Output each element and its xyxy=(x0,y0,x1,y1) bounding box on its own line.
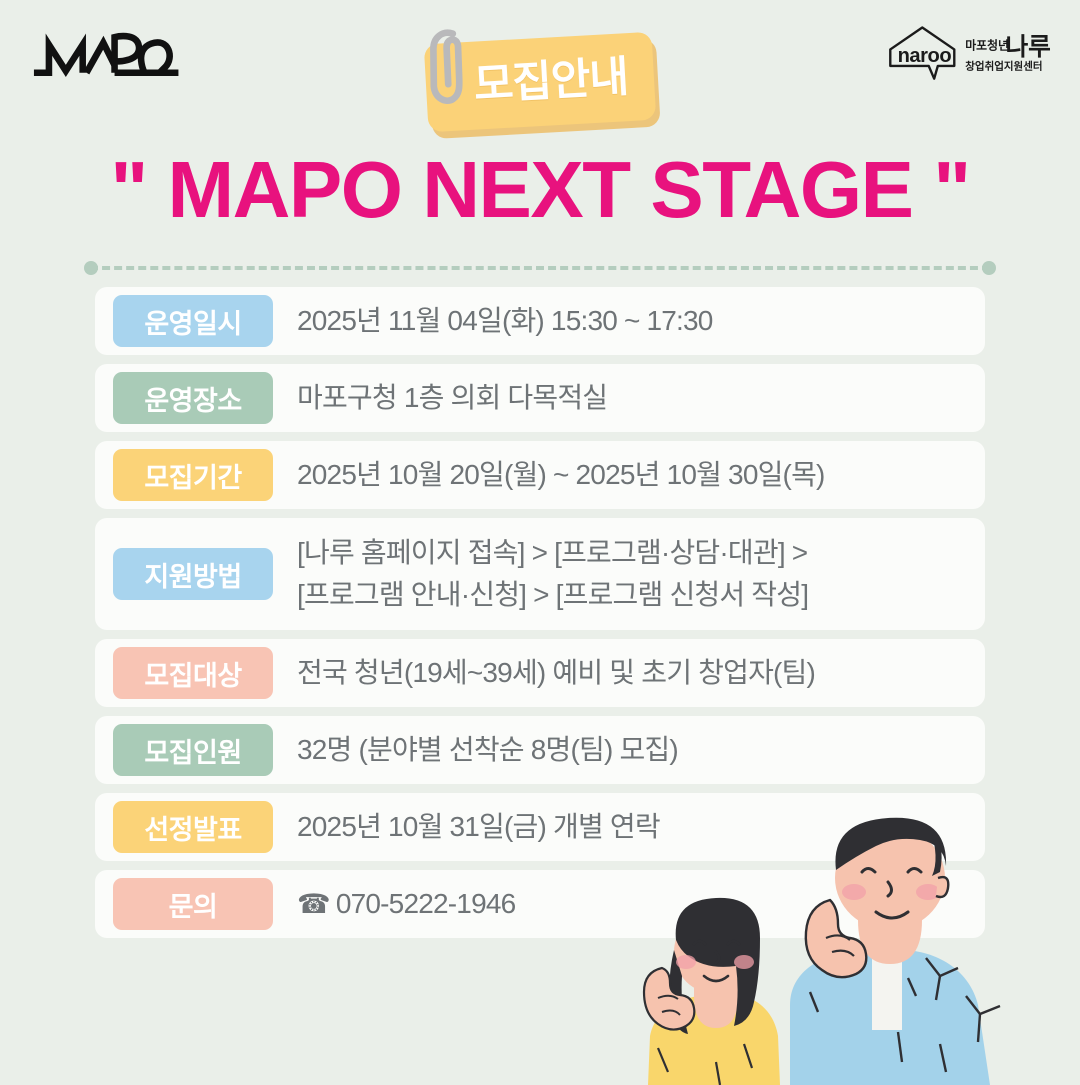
info-row: 모집인원 32명 (분야별 선착순 8명(팀) 모집) xyxy=(95,716,985,784)
row-value: 전국 청년(19세~39세) 예비 및 초기 창업자(팀) xyxy=(297,652,965,694)
row-value-text: 마포구청 1층 의회 다목적실 xyxy=(297,382,607,413)
row-value-text: 070-5222-1946 xyxy=(336,888,516,919)
info-row: 모집기간 2025년 10월 20일(월) ~ 2025년 10월 30일(목) xyxy=(95,441,985,509)
row-label-badge: 운영일시 xyxy=(113,295,273,347)
naroo-sub-line1: 마포청년 xyxy=(965,38,1009,52)
info-row-list: 운영일시 2025년 11월 04일(화) 15:30 ~ 17:30 운영장소… xyxy=(95,287,985,947)
naroo-sub-line2: 창업취업지원센터 xyxy=(965,60,1042,73)
row-value: 2025년 11월 04일(화) 15:30 ~ 17:30 xyxy=(297,300,965,342)
page-title: " MAPO NEXT STAGE " xyxy=(0,148,1080,232)
info-row: 선정발표 2025년 10월 31일(금) 개별 연락 xyxy=(95,793,985,861)
row-value: 32명 (분야별 선착순 8명(팀) 모집) xyxy=(297,729,965,771)
row-value-text: [나루 홈페이지 접속] > [프로그램·상담·대관] > xyxy=(297,537,807,568)
naroo-brand: 나루 xyxy=(1005,33,1050,61)
row-label-badge: 모집대상 xyxy=(113,647,273,699)
row-value-text: 32명 (분야별 선착순 8명(팀) 모집) xyxy=(297,734,678,765)
info-row: 지원방법 [나루 홈페이지 접속] > [프로그램·상담·대관] > [프로그램… xyxy=(95,518,985,630)
divider-dot-right xyxy=(982,261,996,275)
row-value: 마포구청 1층 의회 다목적실 xyxy=(297,377,965,419)
row-value-text: 전국 청년(19세~39세) 예비 및 초기 창업자(팀) xyxy=(297,657,815,688)
info-row: 모집대상 전국 청년(19세~39세) 예비 및 초기 창업자(팀) xyxy=(95,639,985,707)
svg-text:naroo: naroo xyxy=(898,45,952,67)
info-row: 운영일시 2025년 11월 04일(화) 15:30 ~ 17:30 xyxy=(95,287,985,355)
row-label-badge: 문의 xyxy=(113,878,273,930)
row-value-text: 2025년 10월 20일(월) ~ 2025년 10월 30일(목) xyxy=(297,459,825,490)
mapo-logo xyxy=(28,24,188,84)
info-row-contact: 문의 ☎070-5222-1946 xyxy=(95,870,985,938)
poster-canvas: naroo 마포청년 나루 창업취업지원센터 모집안내 " MAPO NEXT … xyxy=(0,0,1080,1080)
info-row: 운영장소 마포구청 1층 의회 다목적실 xyxy=(95,364,985,432)
row-value: 2025년 10월 20일(월) ~ 2025년 10월 30일(목) xyxy=(297,454,965,496)
row-label-badge: 지원방법 xyxy=(113,548,273,600)
telephone-icon: ☎ xyxy=(297,889,330,919)
row-label-badge: 모집기간 xyxy=(113,449,273,501)
dashed-divider xyxy=(84,261,996,275)
row-value-text: 2025년 10월 31일(금) 개별 연락 xyxy=(297,811,660,842)
row-label-badge: 선정발표 xyxy=(113,801,273,853)
recruit-badge: 모집안내 xyxy=(418,30,668,140)
row-value-text-line2: [프로그램 안내·신청] > [프로그램 신청서 작성] xyxy=(297,574,965,616)
row-value: ☎070-5222-1946 xyxy=(297,883,965,925)
row-label-badge: 운영장소 xyxy=(113,372,273,424)
naroo-logo: naroo 마포청년 나루 창업취업지원센터 xyxy=(878,22,1058,86)
divider-line xyxy=(90,266,990,270)
row-value: [나루 홈페이지 접속] > [프로그램·상담·대관] > [프로그램 안내·신… xyxy=(297,532,965,616)
row-value: 2025년 10월 31일(금) 개별 연락 xyxy=(297,806,965,848)
row-label-badge: 모집인원 xyxy=(113,724,273,776)
row-value-text: 2025년 11월 04일(화) 15:30 ~ 17:30 xyxy=(297,305,713,336)
